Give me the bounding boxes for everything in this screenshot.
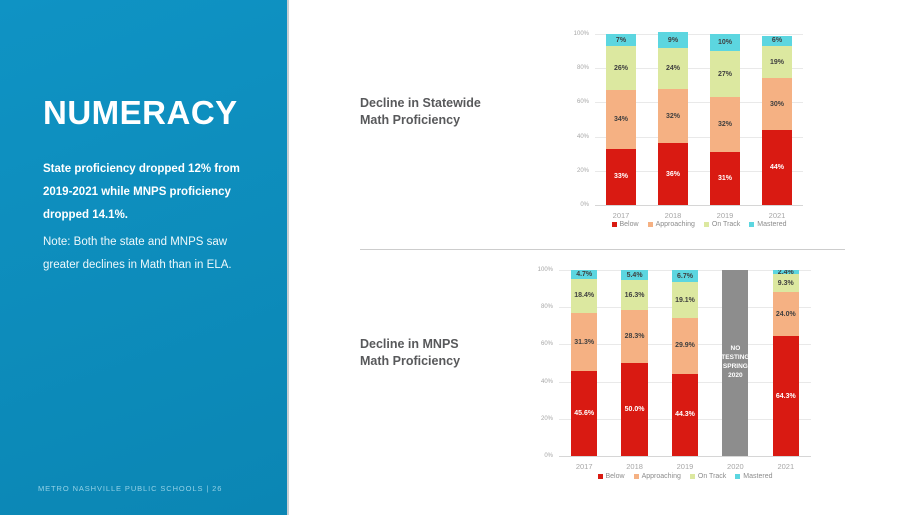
bar-segment-label: 26% bbox=[614, 65, 628, 72]
y-axis-tick-label: 20% bbox=[529, 416, 553, 422]
stacked-bar: 33%34%26%7% bbox=[606, 34, 635, 205]
bar-segment-label: 28.3% bbox=[625, 333, 645, 340]
legend-label: Approaching bbox=[656, 221, 695, 228]
y-axis-tick-label: 60% bbox=[529, 341, 553, 347]
legend-swatch-icon bbox=[749, 222, 754, 227]
legend-item-approaching[interactable]: Approaching bbox=[648, 221, 695, 228]
bar-segment-below: 31% bbox=[710, 152, 739, 205]
legend-item-approaching[interactable]: Approaching bbox=[634, 473, 681, 480]
bar-segment-label: 27% bbox=[718, 71, 732, 78]
bar-segment-label: 32% bbox=[718, 121, 732, 128]
bar-segment-mastered: 9% bbox=[658, 32, 687, 47]
y-axis-tick-label: 80% bbox=[529, 304, 553, 310]
bar-segment-approaching: 34% bbox=[606, 90, 635, 148]
y-axis-tick-label: 0% bbox=[529, 453, 553, 459]
bar-segment-label: 7% bbox=[616, 37, 626, 44]
bar-segment-below: 50.0% bbox=[621, 363, 647, 456]
y-axis-tick-label: 100% bbox=[569, 31, 589, 37]
chart-mnps-math-proficiency: 0%20%40%60%80%100%45.6%31.3%18.4%4.7%201… bbox=[529, 262, 819, 482]
lead-paragraph: State proficiency dropped 12% from 2019-… bbox=[43, 158, 248, 227]
bar-segment-mastered: 6.7% bbox=[672, 270, 698, 282]
bar-segment-mastered: 7% bbox=[606, 34, 635, 46]
chart-heading-mnps: Decline in MNPS Math Proficiency bbox=[360, 336, 540, 370]
bar-segment-mastered: 10% bbox=[710, 34, 739, 51]
bar-segment-approaching: 30% bbox=[762, 78, 791, 129]
y-axis-tick-label: 60% bbox=[569, 99, 589, 105]
bar-segment-label: 4.7% bbox=[576, 271, 592, 278]
bar-segment-mastered: 2.4% bbox=[773, 270, 799, 274]
bar-segment-label: 9% bbox=[668, 37, 678, 44]
bar-segment-label: 24.0% bbox=[776, 311, 796, 318]
bar-segment-label: 32% bbox=[666, 113, 680, 120]
bar-segment-label: 5.4% bbox=[627, 272, 643, 279]
bar-segment-label: 30% bbox=[770, 101, 784, 108]
bar-segment-label: 45.6% bbox=[574, 410, 594, 417]
title-panel: NUMERACY State proficiency dropped 12% f… bbox=[0, 0, 287, 515]
bar-segment-below: 36% bbox=[658, 143, 687, 205]
x-axis-tick-label: 2019 bbox=[660, 462, 710, 471]
slide-footer: METRO NASHVILLE PUBLIC SCHOOLS | 26 bbox=[38, 484, 222, 493]
y-axis-tick-label: 20% bbox=[569, 168, 589, 174]
bar-segment-on-track: 27% bbox=[710, 51, 739, 97]
bar-segment-mastered: 6% bbox=[762, 36, 791, 46]
legend-label: Approaching bbox=[642, 473, 681, 480]
bar-segment-below: 33% bbox=[606, 149, 635, 205]
y-axis-tick-label: 40% bbox=[529, 379, 553, 385]
bar-segment-label: 44% bbox=[770, 164, 784, 171]
bar-segment-label: 19.1% bbox=[675, 297, 695, 304]
chart-legend: BelowApproachingOn TrackMastered bbox=[559, 473, 811, 480]
stacked-bar: 45.6%31.3%18.4%4.7% bbox=[571, 270, 597, 456]
legend-swatch-icon bbox=[634, 474, 639, 479]
legend-swatch-icon bbox=[598, 474, 603, 479]
bar-segment-label: 31.3% bbox=[574, 339, 594, 346]
no-testing-bar: NO TESTING SPRING 2020 bbox=[722, 270, 748, 456]
bar-segment-below: 44.3% bbox=[672, 374, 698, 456]
bar-segment-label: 19% bbox=[770, 59, 784, 66]
x-axis-tick-label: 2021 bbox=[751, 211, 803, 220]
bar-segment-label: 2.4% bbox=[778, 270, 794, 274]
bar-segment-mastered: 5.4% bbox=[621, 270, 647, 280]
legend-label: Mastered bbox=[757, 221, 786, 228]
x-axis-tick-label: 2018 bbox=[647, 211, 699, 220]
charts-panel: Decline in Statewide Math Proficiency 0%… bbox=[289, 0, 917, 515]
bar-segment-below: 45.6% bbox=[571, 371, 597, 456]
y-axis-tick-label: 40% bbox=[569, 134, 589, 140]
x-axis-line bbox=[595, 205, 803, 206]
legend-item-below[interactable]: Below bbox=[598, 473, 625, 480]
bar-segment-mastered: 4.7% bbox=[571, 270, 597, 279]
legend-swatch-icon bbox=[612, 222, 617, 227]
bar-segment-label: 6.7% bbox=[677, 273, 693, 280]
bar-segment-below: 64.3% bbox=[773, 336, 799, 456]
plot-area: 0%20%40%60%80%100%45.6%31.3%18.4%4.7%201… bbox=[529, 262, 819, 482]
note-paragraph: Note: Both the state and MNPS saw greate… bbox=[43, 231, 248, 277]
bar-segment-label: 29.9% bbox=[675, 342, 695, 349]
bar-segment-on-track: 18.4% bbox=[571, 279, 597, 313]
legend-item-mastered[interactable]: Mastered bbox=[749, 221, 786, 228]
bar-segment-approaching: 24.0% bbox=[773, 292, 799, 337]
bar-segment-label: 36% bbox=[666, 171, 680, 178]
bar-segment-on-track: 19.1% bbox=[672, 282, 698, 318]
bar-segment-label: 10% bbox=[718, 39, 732, 46]
legend-item-mastered[interactable]: Mastered bbox=[735, 473, 772, 480]
legend-swatch-icon bbox=[648, 222, 653, 227]
bar-segment-on-track: 9.3% bbox=[773, 274, 799, 291]
stacked-bar: 36%32%24%9% bbox=[658, 34, 687, 205]
x-axis-tick-label: 2017 bbox=[559, 462, 609, 471]
legend-label: Below bbox=[620, 221, 639, 228]
x-axis-line bbox=[559, 456, 811, 457]
bar-segment-approaching: 32% bbox=[658, 89, 687, 144]
stacked-bar: 44.3%29.9%19.1%6.7% bbox=[672, 270, 698, 456]
y-axis-tick-label: 100% bbox=[529, 267, 553, 273]
bar-segment-approaching: 32% bbox=[710, 97, 739, 152]
legend-item-on-track[interactable]: On Track bbox=[690, 473, 726, 480]
legend-label: On Track bbox=[698, 473, 726, 480]
chart-legend: BelowApproachingOn TrackMastered bbox=[595, 221, 803, 228]
legend-label: Mastered bbox=[743, 473, 772, 480]
x-axis-tick-label: 2021 bbox=[761, 462, 811, 471]
y-axis-tick-label: 80% bbox=[569, 65, 589, 71]
x-axis-tick-label: 2019 bbox=[699, 211, 751, 220]
bar-segment-on-track: 24% bbox=[658, 48, 687, 89]
bar-segment-label: 64.3% bbox=[776, 393, 796, 400]
plot-area: 0%20%40%60%80%100%33%34%26%7%201736%32%2… bbox=[569, 26, 809, 231]
bar-segment-approaching: 29.9% bbox=[672, 318, 698, 374]
bar-segment-label: 24% bbox=[666, 65, 680, 72]
bar-segment-label: 44.3% bbox=[675, 411, 695, 418]
x-axis-tick-label: 2018 bbox=[609, 462, 659, 471]
legend-swatch-icon bbox=[735, 474, 740, 479]
x-axis-tick-label: 2017 bbox=[595, 211, 647, 220]
chart-heading-statewide: Decline in Statewide Math Proficiency bbox=[360, 95, 540, 129]
bar-segment-on-track: 16.3% bbox=[621, 280, 647, 310]
bar-segment-label: 18.4% bbox=[574, 292, 594, 299]
page-title: NUMERACY bbox=[43, 96, 238, 131]
legend-swatch-icon bbox=[690, 474, 695, 479]
chart-statewide-math-proficiency: 0%20%40%60%80%100%33%34%26%7%201736%32%2… bbox=[569, 26, 809, 231]
section-divider bbox=[360, 249, 845, 250]
bar-segment-label: 9.3% bbox=[778, 280, 794, 287]
bar-segment-label: 34% bbox=[614, 116, 628, 123]
bar-segment-on-track: 26% bbox=[606, 46, 635, 90]
bar-segment-label: 31% bbox=[718, 175, 732, 182]
legend-label: On Track bbox=[712, 221, 740, 228]
bar-segment-approaching: 31.3% bbox=[571, 313, 597, 371]
legend-label: Below bbox=[606, 473, 625, 480]
stacked-bar: 44%30%19%6% bbox=[762, 34, 791, 205]
stacked-bar: 64.3%24.0%9.3%2.4% bbox=[773, 270, 799, 456]
bar-segment-below: 44% bbox=[762, 130, 791, 205]
bar-segment-label: 33% bbox=[614, 173, 628, 180]
bar-segment-label: 50.0% bbox=[625, 406, 645, 413]
legend-item-on-track[interactable]: On Track bbox=[704, 221, 740, 228]
y-axis-tick-label: 0% bbox=[569, 202, 589, 208]
legend-item-below[interactable]: Below bbox=[612, 221, 639, 228]
x-axis-tick-label: 2020 bbox=[710, 462, 760, 471]
no-testing-label: NO TESTING SPRING 2020 bbox=[721, 345, 749, 380]
stacked-bar: 31%32%27%10% bbox=[710, 34, 739, 205]
bar-segment-label: 16.3% bbox=[625, 292, 645, 299]
legend-swatch-icon bbox=[704, 222, 709, 227]
slide-canvas: NUMERACY State proficiency dropped 12% f… bbox=[0, 0, 917, 515]
bar-segment-approaching: 28.3% bbox=[621, 310, 647, 363]
bar-segment-on-track: 19% bbox=[762, 46, 791, 78]
bar-segment-label: 6% bbox=[772, 37, 782, 44]
stacked-bar: 50.0%28.3%16.3%5.4% bbox=[621, 270, 647, 456]
